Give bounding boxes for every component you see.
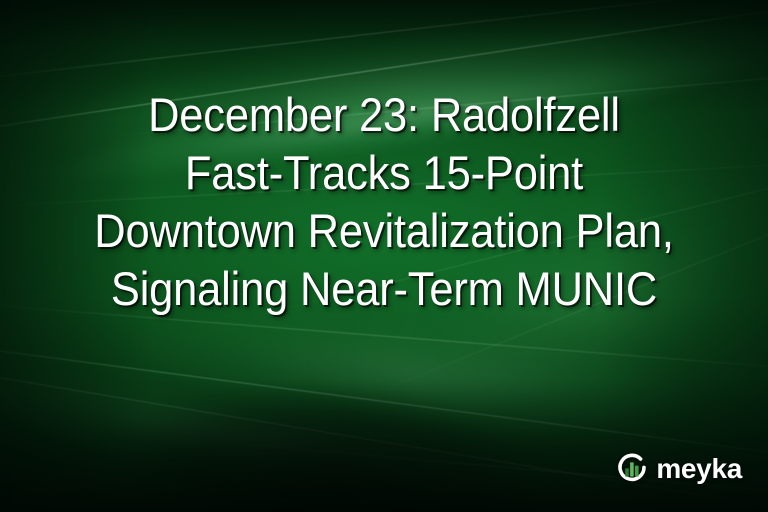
- headline-line-4: Signaling Near-Term MUNIC: [42, 260, 727, 318]
- headline-line-2: Fast-Tracks 15-Point: [42, 144, 727, 202]
- meyka-bar-chart-ring-icon: [615, 452, 649, 486]
- brand-logo: meyka: [615, 452, 742, 486]
- news-card: December 23: Radolfzell Fast-Tracks 15-P…: [0, 0, 768, 512]
- headline-line-3: Downtown Revitalization Plan,: [42, 202, 727, 260]
- headline: December 23: Radolfzell Fast-Tracks 15-P…: [0, 86, 768, 318]
- brand-wordmark: meyka: [656, 455, 742, 483]
- headline-line-1: December 23: Radolfzell: [42, 86, 727, 144]
